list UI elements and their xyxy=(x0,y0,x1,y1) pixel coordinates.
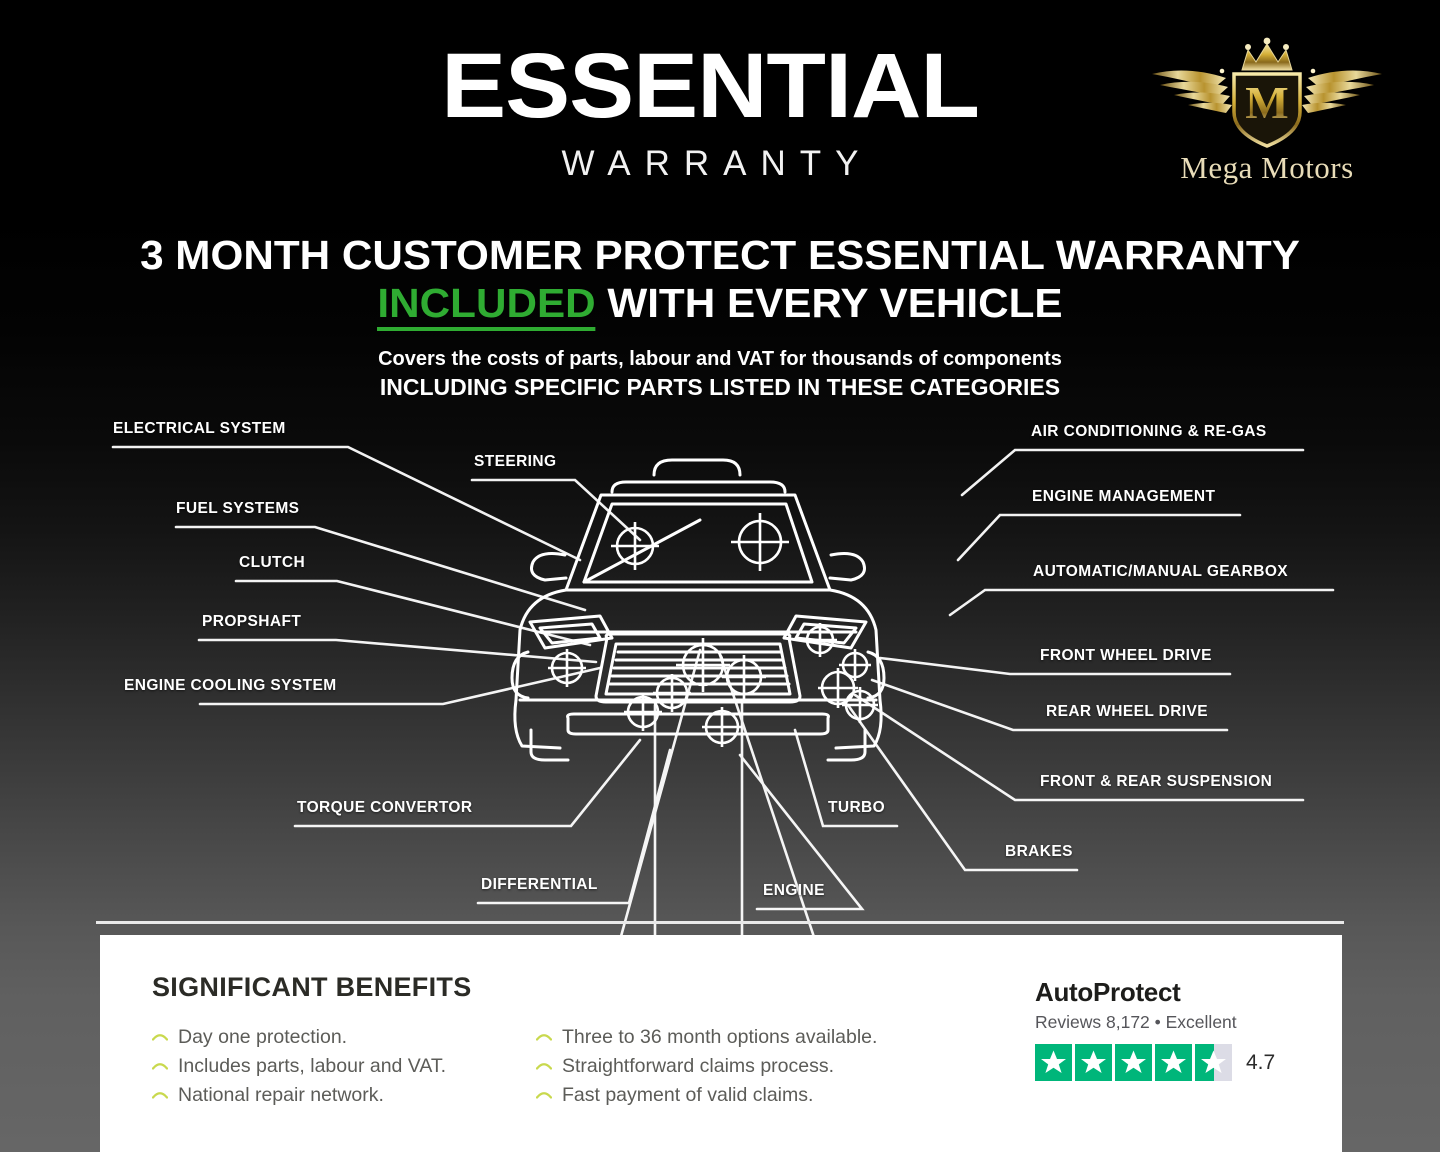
coverage-diagram: ELECTRICAL SYSTEM FUEL SYSTEMS CLUTCH PR… xyxy=(0,400,1440,940)
panel-top-divider xyxy=(96,921,1344,924)
winged-crown-shield-icon: M xyxy=(1122,34,1412,152)
list-item: National repair network. xyxy=(148,1081,548,1110)
list-item-label: Straightforward claims process. xyxy=(562,1055,834,1077)
car-illustration xyxy=(512,460,884,760)
label-brakes: BRAKES xyxy=(1005,843,1073,861)
label-differential: DIFFERENTIAL xyxy=(481,876,598,894)
headline: 3 MONTH CUSTOMER PROTECT ESSENTIAL WARRA… xyxy=(102,232,1338,327)
list-item-label: Three to 36 month options available. xyxy=(562,1026,877,1048)
label-torque-convertor: TORQUE CONVERTOR xyxy=(297,799,473,817)
label-automatic-manual-gearbox: AUTOMATIC/MANUAL GEARBOX xyxy=(1033,563,1288,581)
list-item-label: Day one protection. xyxy=(178,1026,347,1048)
label-engine-management: ENGINE MANAGEMENT xyxy=(1032,488,1215,506)
label-steering: STEERING xyxy=(474,453,556,471)
benefits-panel: SIGNIFICANT BENEFITS Day one protection.… xyxy=(100,935,1342,1152)
star-icon-filled xyxy=(1115,1044,1152,1081)
star-icon-filled xyxy=(1035,1044,1072,1081)
brand-name: Mega Motors xyxy=(1122,150,1412,186)
list-item-label: National repair network. xyxy=(178,1084,384,1106)
label-fuel-systems: FUEL SYSTEMS xyxy=(176,500,299,518)
autoprotect-name: AutoProtect xyxy=(1035,977,1325,1008)
label-clutch: CLUTCH xyxy=(239,554,305,572)
chevron-up-icon xyxy=(536,1028,552,1044)
label-electrical-system: ELECTRICAL SYSTEM xyxy=(113,420,286,438)
chevron-up-icon xyxy=(536,1057,552,1073)
benefits-column-2: Three to 36 month options available. Str… xyxy=(532,1023,962,1110)
subheadline-secondary: INCLUDING SPECIFIC PARTS LISTED IN THESE… xyxy=(120,374,1320,401)
list-item-label: Fast payment of valid claims. xyxy=(562,1084,813,1106)
chevron-up-icon xyxy=(152,1086,168,1102)
headline-highlight: INCLUDED xyxy=(377,280,595,331)
autoprotect-reviews-line: Reviews 8,172 • Excellent xyxy=(1035,1012,1325,1033)
star-icon-half xyxy=(1195,1044,1232,1081)
label-air-conditioning-re-gas: AIR CONDITIONING & RE-GAS xyxy=(1031,423,1267,441)
benefits-title: SIGNIFICANT BENEFITS xyxy=(152,972,472,1003)
list-item: Fast payment of valid claims. xyxy=(532,1081,962,1110)
label-engine-cooling-system: ENGINE COOLING SYSTEM xyxy=(124,677,337,695)
svg-text:M: M xyxy=(1245,77,1288,128)
label-turbo: TURBO xyxy=(828,799,885,817)
warranty-infographic: ESSENTIAL WARRANTY xyxy=(0,0,1440,1152)
star-icon-filled xyxy=(1155,1044,1192,1081)
chevron-up-icon xyxy=(152,1028,168,1044)
headline-part1: 3 MONTH CUSTOMER PROTECT ESSENTIAL WARRA… xyxy=(140,232,1300,278)
star-icon-filled xyxy=(1075,1044,1112,1081)
list-item: Straightforward claims process. xyxy=(532,1052,962,1081)
list-item: Day one protection. xyxy=(148,1023,548,1052)
label-rear-wheel-drive: REAR WHEEL DRIVE xyxy=(1046,703,1208,721)
label-engine: ENGINE xyxy=(763,882,825,900)
diagram-lines xyxy=(0,400,1440,940)
page-subtitle: WARRANTY xyxy=(360,144,1060,184)
trustpilot-stars: 4.7 xyxy=(1035,1044,1325,1081)
headline-part2: WITH EVERY VEHICLE xyxy=(596,280,1063,326)
brand-logo: M Mega Motors xyxy=(1122,34,1412,194)
chevron-up-icon xyxy=(536,1086,552,1102)
list-item-label: Includes parts, labour and VAT. xyxy=(178,1055,446,1077)
label-front-wheel-drive: FRONT WHEEL DRIVE xyxy=(1040,647,1212,665)
label-front-rear-suspension: FRONT & REAR SUSPENSION xyxy=(1040,773,1272,791)
subheadline-primary: Covers the costs of parts, labour and VA… xyxy=(120,348,1320,371)
title-block: ESSENTIAL WARRANTY xyxy=(360,40,1060,184)
list-item: Includes parts, labour and VAT. xyxy=(148,1052,548,1081)
autoprotect-rating-block: AutoProtect Reviews 8,172 • Excellent xyxy=(1035,977,1325,1081)
benefits-column-1: Day one protection. Includes parts, labo… xyxy=(148,1023,548,1110)
rating-score: 4.7 xyxy=(1246,1051,1275,1075)
label-propshaft: PROPSHAFT xyxy=(202,613,301,631)
page-title: ESSENTIAL xyxy=(339,40,1081,132)
chevron-up-icon xyxy=(152,1057,168,1073)
header-bar: ESSENTIAL WARRANTY xyxy=(0,0,1440,210)
list-item: Three to 36 month options available. xyxy=(532,1023,962,1052)
